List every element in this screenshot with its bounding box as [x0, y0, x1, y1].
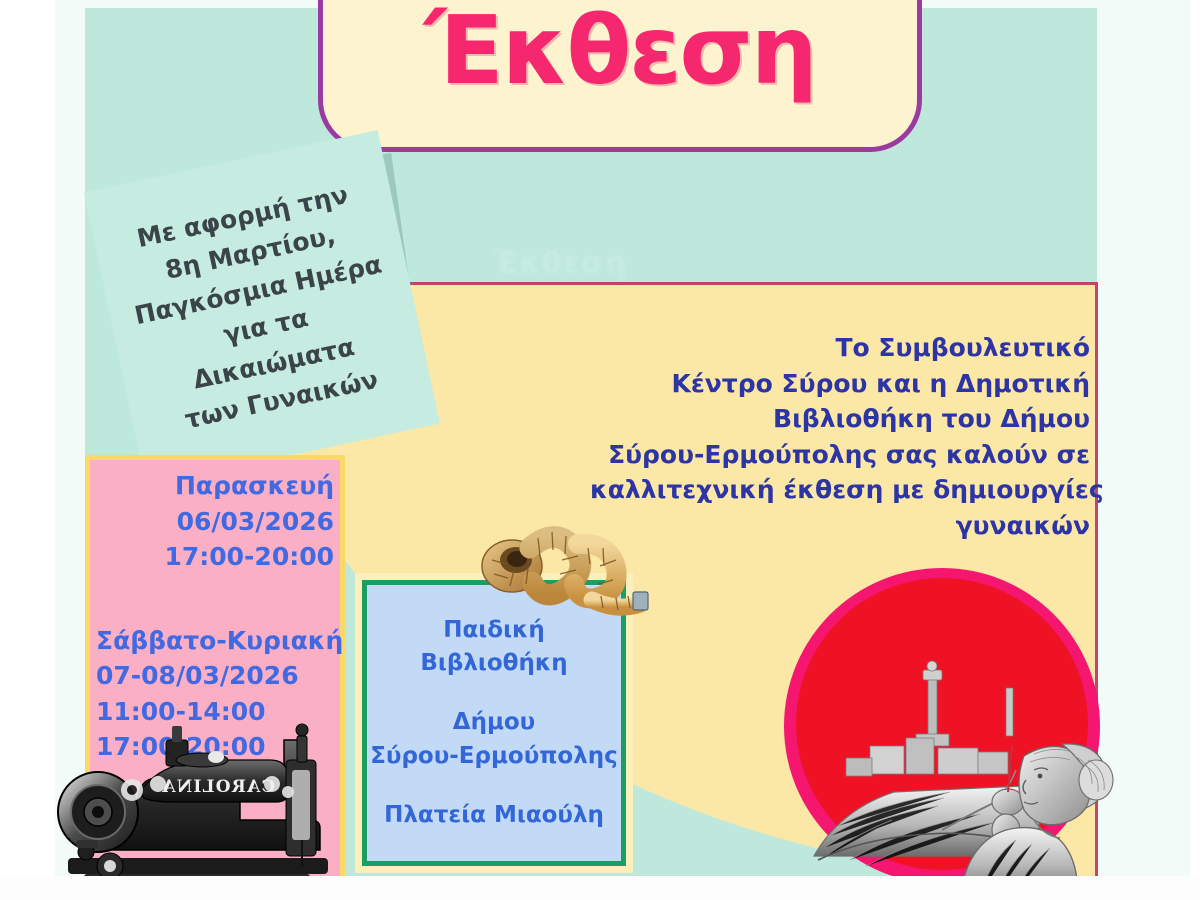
woman-sewing-illustration [810, 660, 1120, 900]
schedule-friday-hours: 17:00-20:00 [90, 539, 334, 575]
occasion-note-text: Με αφορμή την 8η Μαρτίου, Παγκόσμια Ημέρ… [97, 168, 427, 448]
schedule-friday-day: Παρασκευή [90, 468, 334, 504]
invitation-line-4: Σύρου-Ερμούπολης σας καλούν σε [590, 437, 1090, 473]
schedule-friday-date: 06/03/2026 [90, 504, 334, 540]
venue-line-4: Πλατεία Μιαούλη [367, 799, 621, 832]
invitation-text: Το Συμβουλευτικό Κέντρο Σύρου και η Δημο… [590, 330, 1090, 543]
venue-text: Παιδική Βιβλιοθήκη Δήμου Σύρου-Ερμούπολη… [367, 614, 621, 833]
left-white-margin [0, 0, 55, 900]
schedule-weekend-date: 07-08/03/2026 [96, 658, 340, 694]
occasion-note: Με αφορμή την 8η Μαρτίου, Παγκόσμια Ημέρ… [84, 130, 440, 486]
venue-line-3: Σύρου-Ερμούπολης [367, 740, 621, 773]
schedule-weekend-day: Σάββατο-Κυριακή [96, 623, 340, 659]
invitation-line-1: Το Συμβουλευτικό [590, 330, 1090, 366]
page-title: Έκθεση [424, 9, 815, 95]
sewing-machine-brand: CAROLINA [161, 777, 275, 797]
venue-spacer-1 [367, 680, 621, 706]
invitation-line-3: Βιβλιοθήκη του Δήμου [590, 401, 1090, 437]
invitation-line-2: Κέντρο Σύρου και η Δημοτική [590, 366, 1090, 402]
schedule-block-friday: Παρασκευή 06/03/2026 17:00-20:00 [90, 468, 340, 575]
invitation-line-6: γυναικών [590, 508, 1090, 544]
poster-canvas: Έκθεση Το Συμβουλευτικό Κέντρο Σύρου και… [0, 0, 1200, 900]
tape-measure-icon [470, 508, 660, 628]
venue-line-2: Δήμου [367, 706, 621, 739]
sewing-machine-icon: CAROLINA [40, 700, 370, 900]
bottom-white-margin [0, 876, 1200, 900]
right-white-margin [1190, 0, 1200, 900]
title-banner: Έκθεση [318, 0, 922, 152]
invitation-line-5: καλλιτεχνική έκθεση με δημιουργίες [590, 472, 1090, 508]
venue-spacer-2 [367, 773, 621, 799]
